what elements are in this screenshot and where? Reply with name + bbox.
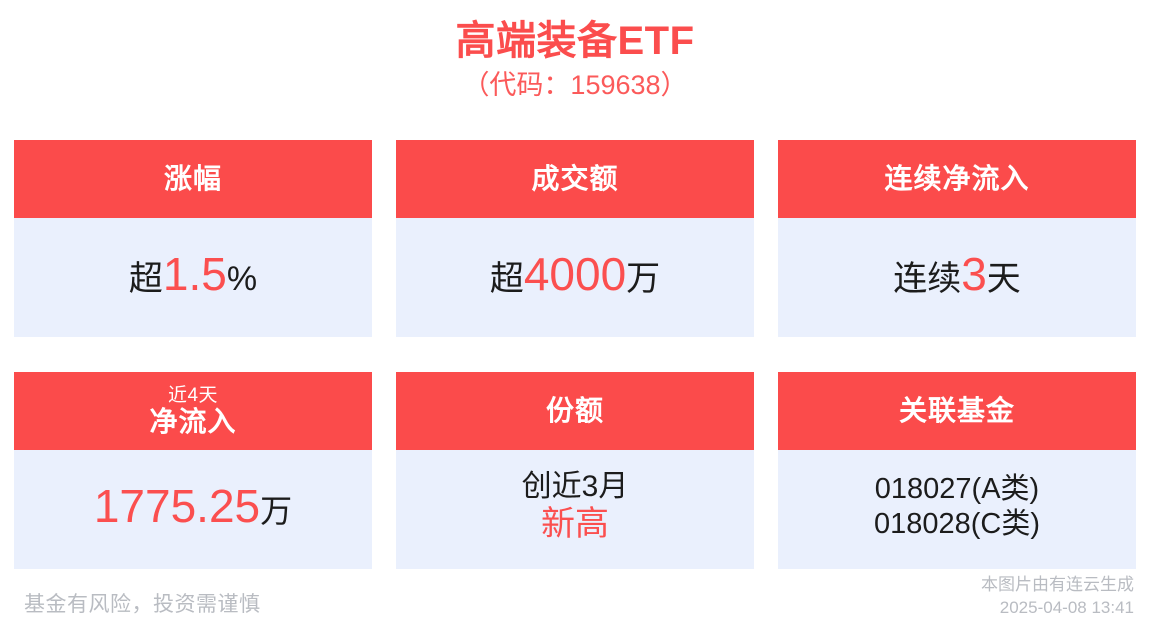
card-value-line: 创近3月 <box>522 469 629 504</box>
card-value-line: 连续3天 <box>893 247 1021 301</box>
metric-card-turnover: 成交额超4000万 <box>396 140 754 337</box>
card-value-segment: 1775.25 <box>94 480 260 532</box>
metric-card-consecutive-net-inflow: 连续净流入连续3天 <box>778 140 1136 337</box>
metric-card-related-funds: 关联基金018027(A类)018028(C类) <box>778 372 1136 569</box>
generation-credit: 本图片由有连云生成 2025-04-08 13:41 <box>981 574 1134 624</box>
card-value-segment: 创近3月 <box>522 470 629 503</box>
card-body-consecutive-net-inflow: 连续3天 <box>778 218 1136 337</box>
card-value-segment: 万 <box>260 493 292 529</box>
card-body-change-pct: 超1.5% <box>14 218 372 337</box>
card-body-net-inflow-4d: 1775.25万 <box>14 450 372 569</box>
card-header-net-inflow-4d: 近4天净流入 <box>14 372 372 450</box>
metric-card-shares: 份额创近3月新高 <box>396 372 754 569</box>
card-header-consecutive-net-inflow: 连续净流入 <box>778 140 1136 218</box>
card-header-title: 涨幅 <box>164 163 222 194</box>
card-value-segment: 4000 <box>524 248 626 300</box>
card-value-segment: 018028(C类) <box>874 508 1040 540</box>
card-header-title: 关联基金 <box>899 395 1015 426</box>
card-value-line: 018028(C类) <box>874 507 1040 541</box>
credit-source: 本图片由有连云生成 <box>981 574 1134 597</box>
card-header-shares: 份额 <box>396 372 754 450</box>
card-header-title: 净流入 <box>149 406 236 437</box>
metric-card-change-pct: 涨幅超1.5% <box>14 140 372 337</box>
card-value-line: 1775.25万 <box>94 479 292 533</box>
card-body-turnover: 超4000万 <box>396 218 754 337</box>
card-value-segment: 018027(A类) <box>875 473 1039 505</box>
card-value-segment: 3 <box>961 248 987 300</box>
card-header-title: 成交额 <box>531 163 618 194</box>
card-value-line: 新高 <box>541 504 609 544</box>
card-value-segment: % <box>227 260 257 298</box>
card-header-title: 连续净流入 <box>884 163 1029 194</box>
card-body-shares: 创近3月新高 <box>396 450 754 569</box>
metric-card-net-inflow-4d: 近4天净流入1775.25万 <box>14 372 372 569</box>
card-value-line: 超1.5% <box>129 247 257 301</box>
card-value-segment: 天 <box>987 260 1021 298</box>
card-header-change-pct: 涨幅 <box>14 140 372 218</box>
page-title: 高端装备ETF <box>0 18 1150 65</box>
card-body-related-funds: 018027(A类)018028(C类) <box>778 450 1136 569</box>
page-header: 高端装备ETF （代码：159638） <box>0 0 1150 102</box>
fund-code-label: （代码：159638） <box>0 69 1150 101</box>
card-value-segment: 超 <box>129 260 163 298</box>
card-header-turnover: 成交额 <box>396 140 754 218</box>
risk-disclaimer: 基金有风险，投资需谨慎 <box>24 588 261 624</box>
card-value-segment: 万 <box>626 260 660 298</box>
page-footer: 基金有风险，投资需谨慎 本图片由有连云生成 2025-04-08 13:41 <box>0 572 1150 632</box>
credit-timestamp: 2025-04-08 13:41 <box>981 597 1134 620</box>
card-value-line: 018027(A类) <box>875 472 1039 506</box>
card-header-subtitle: 近4天 <box>168 385 218 406</box>
card-header-related-funds: 关联基金 <box>778 372 1136 450</box>
card-value-line: 超4000万 <box>490 247 660 301</box>
card-header-title: 份额 <box>546 395 604 426</box>
etf-info-card-page: 高端装备ETF （代码：159638） 涨幅超1.5%成交额超4000万连续净流… <box>0 0 1150 632</box>
metric-card-grid: 涨幅超1.5%成交额超4000万连续净流入连续3天近4天净流入1775.25万份… <box>14 140 1136 569</box>
card-value-segment: 新高 <box>541 505 609 543</box>
card-value-segment: 连续 <box>893 260 961 298</box>
card-value-segment: 超 <box>490 260 524 298</box>
card-value-segment: 1.5 <box>163 248 227 300</box>
